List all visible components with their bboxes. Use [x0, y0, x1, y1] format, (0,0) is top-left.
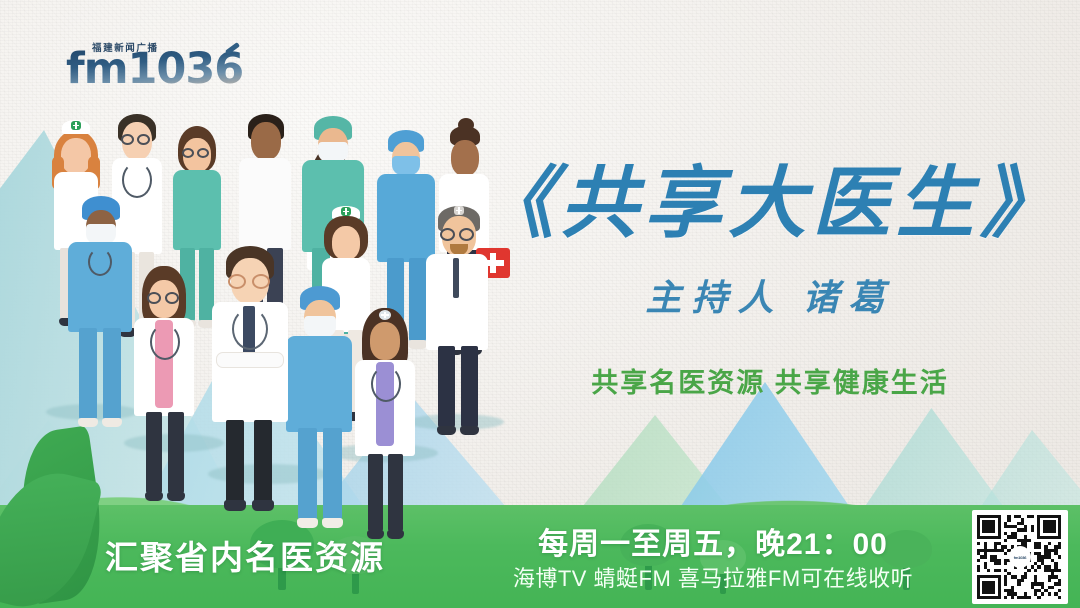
glasses-icon	[165, 292, 179, 304]
glasses-icon	[228, 274, 246, 289]
logo-frequency: fm1036	[66, 48, 243, 91]
fm1036-logo[interactable]: 福建新闻广播 fm1036	[66, 40, 236, 102]
person-front-doctor	[206, 244, 294, 514]
medical-staff-group	[28, 104, 498, 504]
host-line: 主持人 诸葛	[470, 269, 1070, 321]
glasses-icon	[147, 292, 161, 304]
stethoscope-icon	[371, 366, 401, 402]
crossed-arms	[216, 352, 284, 368]
person-female-doctor-pink	[128, 262, 200, 512]
glasses-icon	[182, 148, 194, 158]
qr-code-matrix: fm1036	[977, 515, 1063, 599]
qr-code[interactable]: fm1036	[972, 510, 1068, 604]
bottom-bar: 汇聚省内名医资源 每周一至周五，晚21：00 海博TV 蜻蜓FM 喜马拉雅FM可…	[0, 505, 1080, 608]
stethoscope-icon	[232, 308, 268, 350]
glasses-icon	[252, 274, 270, 289]
stethoscope-icon	[150, 324, 180, 360]
stethoscope-icon	[88, 248, 112, 276]
bottom-left-slogan: 汇聚省内名医资源	[105, 531, 385, 579]
tagline: 共享名医资源 共享健康生活	[470, 361, 1070, 400]
person-surgeon-darkskin	[62, 192, 138, 442]
glasses-icon	[197, 148, 209, 158]
glasses-icon	[121, 134, 134, 145]
broadcast-platforms: 海博TV 蜻蜓FM 喜马拉雅FM可在线收听	[470, 561, 956, 593]
glasses-icon	[440, 228, 455, 241]
program-title: 《共享大医生》	[470, 160, 1070, 247]
broadcast-schedule: 每周一至周五，晚21：00	[478, 519, 948, 563]
headline-block: 《共享大医生》 主持人 诸葛 共享名医资源 共享健康生活	[470, 160, 1070, 400]
qr-center-logo: fm1036	[1009, 546, 1031, 568]
poster-canvas: 福建新闻广播 fm1036 《共享大医生》 主持人 诸葛 共享名医资源 共享健康…	[0, 0, 1080, 608]
glasses-icon	[137, 134, 150, 145]
necktie	[453, 258, 459, 298]
